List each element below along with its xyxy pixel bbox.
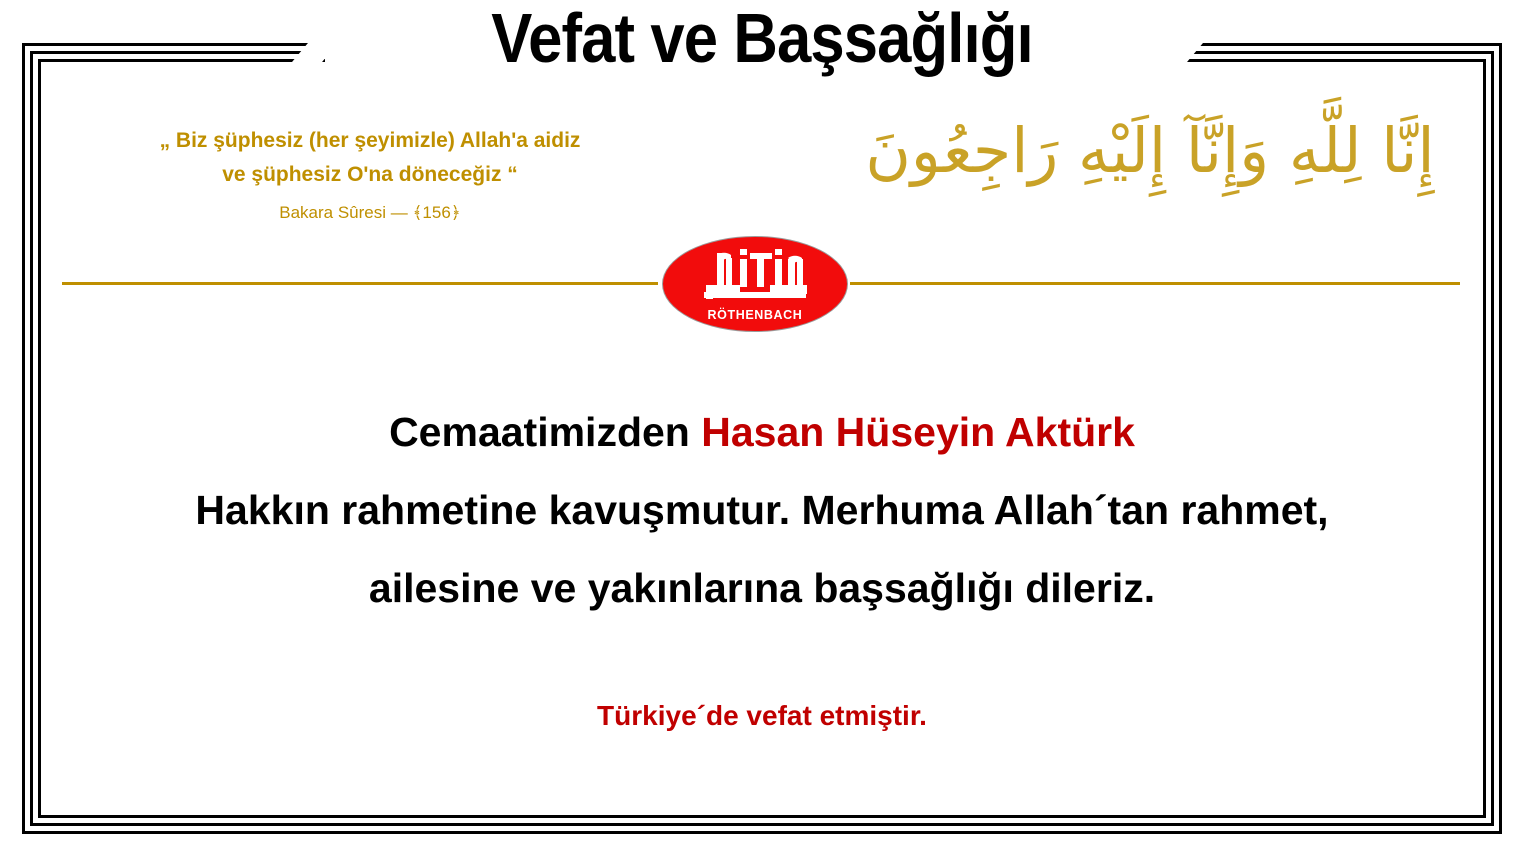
frame-line-left-middle <box>30 51 33 826</box>
divider-left <box>62 282 658 285</box>
frame-line-bottom-middle <box>30 823 1494 826</box>
quote-line-2: ve şüphesiz O'na döneceğiz “ <box>60 158 680 192</box>
arabic-verse: إِنَّا لِلَّهِ وَإِنَّآ إِلَيْهِ رَاجِعُ… <box>830 112 1470 190</box>
quran-quote: „ Biz şüphesiz (her şeyimizle) Allah'a a… <box>60 124 680 223</box>
memorial-message: Cemaatimizden Hasan Hüseyin Aktürk Hakkı… <box>40 393 1484 627</box>
divider-right <box>850 282 1460 285</box>
quote-source: Bakara Sûresi — ﴾156﴿ <box>60 202 680 223</box>
page-title: Vefat ve Başsağlığı <box>91 0 1432 78</box>
logo-subtitle: RÖTHENBACH <box>663 308 847 322</box>
death-location-note: Türkiye´de vefat etmiştir. <box>40 700 1484 732</box>
memorial-card: Vefat ve Başsağlığı „ Biz şüphesiz (her … <box>0 0 1524 851</box>
ditib-logo: RÖTHENBACH <box>663 237 847 331</box>
message-prefix: Cemaatimizden <box>389 409 701 455</box>
frame-line-right-outer <box>1499 43 1502 834</box>
deceased-name: Hasan Hüseyin Aktürk <box>701 409 1135 455</box>
frame-line-left-outer <box>22 43 25 834</box>
frame-line-bottom-outer <box>22 831 1502 834</box>
frame-line-bottom-inner <box>38 815 1486 818</box>
message-line-3: ailesine ve yakınlarına başsağlığı diler… <box>40 549 1484 627</box>
message-line-1: Cemaatimizden Hasan Hüseyin Aktürk <box>40 393 1484 471</box>
ditib-mosque-icon <box>696 247 814 301</box>
frame-line-right-middle <box>1491 51 1494 826</box>
quote-line-1: „ Biz şüphesiz (her şeyimizle) Allah'a a… <box>60 124 680 158</box>
message-line-2: Hakkın rahmetine kavuşmutur. Merhuma All… <box>40 471 1484 549</box>
